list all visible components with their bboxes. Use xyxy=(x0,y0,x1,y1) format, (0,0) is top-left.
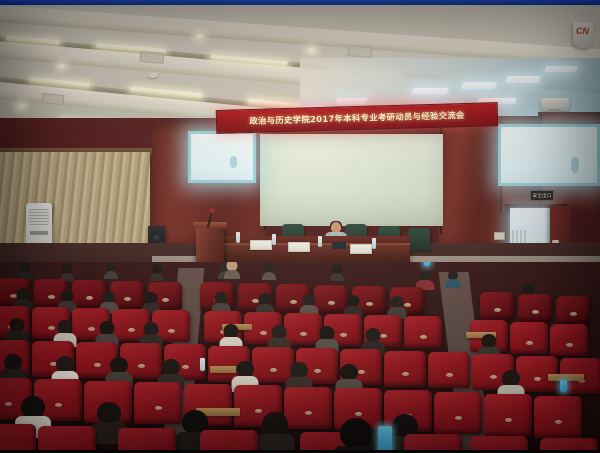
top-border-strip xyxy=(0,0,600,5)
speaker-driver xyxy=(151,232,162,243)
ac-panel xyxy=(30,231,48,235)
audience-member xyxy=(150,264,164,278)
ceiling-panel-light xyxy=(335,98,367,104)
event-banner-text: 政治与历史学院2017年本科专业考研动员与经验交流会 xyxy=(249,109,465,127)
corner-device: CN xyxy=(573,22,593,48)
audience-photographer xyxy=(416,266,434,286)
auditorium-seat[interactable] xyxy=(434,392,482,434)
auditorium-seat[interactable] xyxy=(518,294,552,322)
water-bottle xyxy=(318,236,322,247)
name-card xyxy=(250,240,272,250)
auditorium-seat[interactable] xyxy=(0,424,36,453)
audience-member xyxy=(60,264,74,278)
ceiling-projector xyxy=(541,98,569,111)
auditorium-seat[interactable] xyxy=(550,324,588,356)
audience-member xyxy=(446,270,460,286)
ceiling-panel-light xyxy=(461,82,498,89)
auditorium-seat[interactable] xyxy=(428,352,470,388)
water-bottle xyxy=(372,238,376,249)
auditorium-seat[interactable] xyxy=(510,322,548,354)
audience-member xyxy=(18,262,32,276)
auditorium-seat[interactable] xyxy=(134,382,182,424)
table-equipment xyxy=(332,242,346,249)
ceiling-panel-light xyxy=(411,88,450,95)
stage-chair[interactable] xyxy=(408,228,430,250)
left-projection-screen xyxy=(188,131,256,183)
ac-grill xyxy=(29,209,49,225)
auditorium-seat[interactable] xyxy=(556,296,590,324)
held-phone-foreground[interactable] xyxy=(378,426,392,453)
auditorium-seat[interactable] xyxy=(534,396,582,438)
ceiling-panel-light xyxy=(505,76,542,83)
right-projection-screen xyxy=(498,124,600,186)
name-card xyxy=(350,244,372,254)
audience-member xyxy=(330,264,344,278)
auditorium-seat[interactable] xyxy=(484,394,532,436)
corner-device-label: CN xyxy=(576,26,589,36)
exit-sign-text: 安全出口 xyxy=(533,193,552,199)
audience-member xyxy=(262,263,276,277)
auditorium-seat[interactable] xyxy=(314,285,348,313)
audience-member xyxy=(258,412,292,452)
raised-phone[interactable] xyxy=(424,262,430,266)
name-card xyxy=(288,242,310,252)
auditorium-seat[interactable] xyxy=(480,292,514,320)
held-phone[interactable] xyxy=(560,380,567,392)
wall-switch[interactable] xyxy=(494,232,505,240)
auditorium-photograph: CN 政治与历史学院2017年本科专业考研动员与经验交流会 安全出口 xyxy=(0,0,600,453)
water-bottle xyxy=(200,358,205,371)
audience-member xyxy=(224,262,240,276)
audience-member-foreground xyxy=(336,418,376,453)
audience-member xyxy=(104,262,118,276)
ceiling-panel-light xyxy=(544,66,578,72)
stage-backdrop-panel xyxy=(260,134,443,226)
water-bottle xyxy=(236,232,240,243)
auditorium-seat[interactable] xyxy=(384,351,426,387)
audience-seating-area xyxy=(0,262,600,453)
exit-sign: 安全出口 xyxy=(530,190,554,201)
water-bottle xyxy=(272,234,276,245)
wall-wood-panel xyxy=(438,120,502,250)
auditorium-seat[interactable] xyxy=(38,426,96,453)
auditorium-seat[interactable] xyxy=(404,316,442,348)
